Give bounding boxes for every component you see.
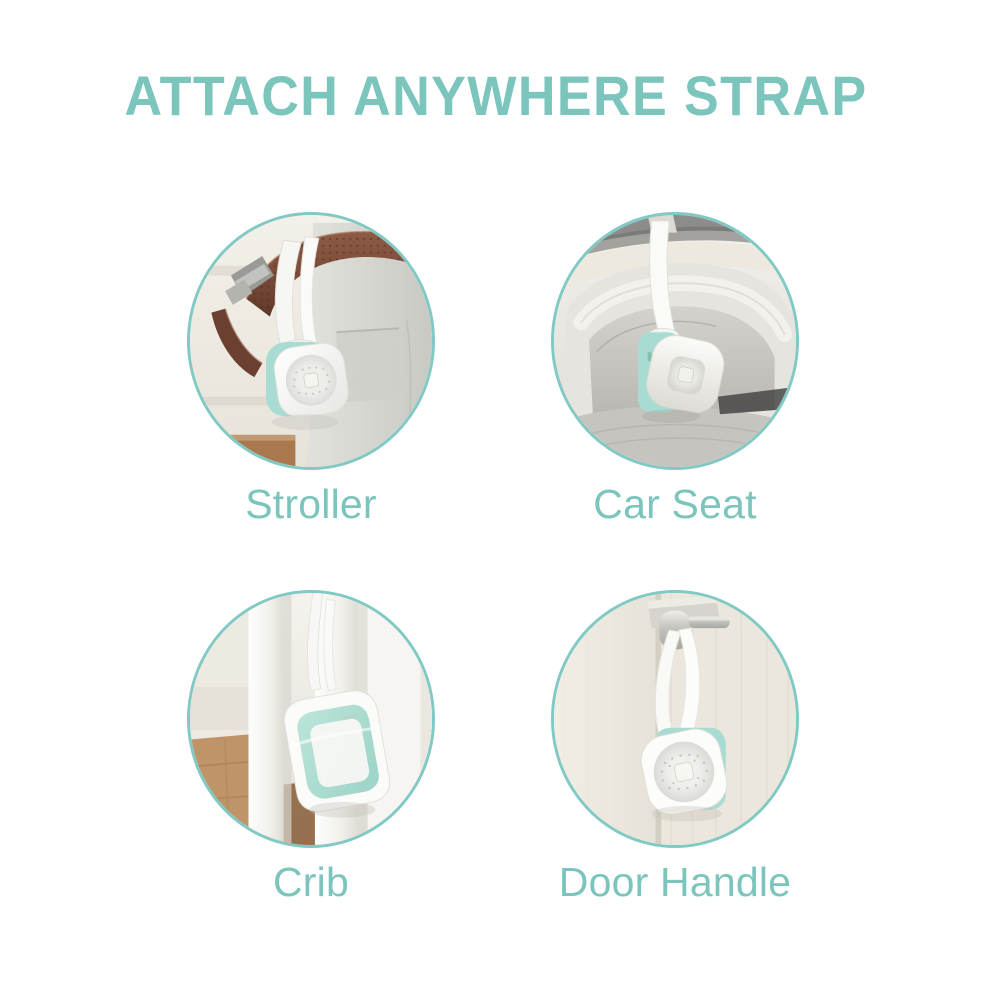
- feature-label-car-seat: Car Seat: [490, 480, 860, 528]
- feature-cell-car-seat: Car Seat: [490, 200, 860, 555]
- car-seat-photo: [551, 212, 799, 470]
- crib-scene-illustration: hatch: [190, 593, 432, 845]
- feature-cell-crib: hatch Crib: [126, 578, 496, 933]
- feature-cell-door-handle: Door Handle: [490, 578, 860, 933]
- car-seat-scene-illustration: [554, 215, 796, 467]
- stroller-scene-illustration: [190, 215, 432, 467]
- feature-label-stroller: Stroller: [126, 480, 496, 528]
- stroller-photo: [187, 212, 435, 470]
- feature-cell-stroller: Stroller: [126, 200, 496, 555]
- door-handle-scene-illustration: [554, 593, 796, 845]
- door-handle-photo: [551, 590, 799, 848]
- feature-grid: Stroller: [0, 200, 992, 940]
- feature-label-door-handle: Door Handle: [490, 858, 860, 906]
- crib-photo: hatch: [187, 590, 435, 848]
- page-title: ATTACH ANYWHERE STRAP: [35, 66, 958, 126]
- feature-label-crib: Crib: [126, 858, 496, 906]
